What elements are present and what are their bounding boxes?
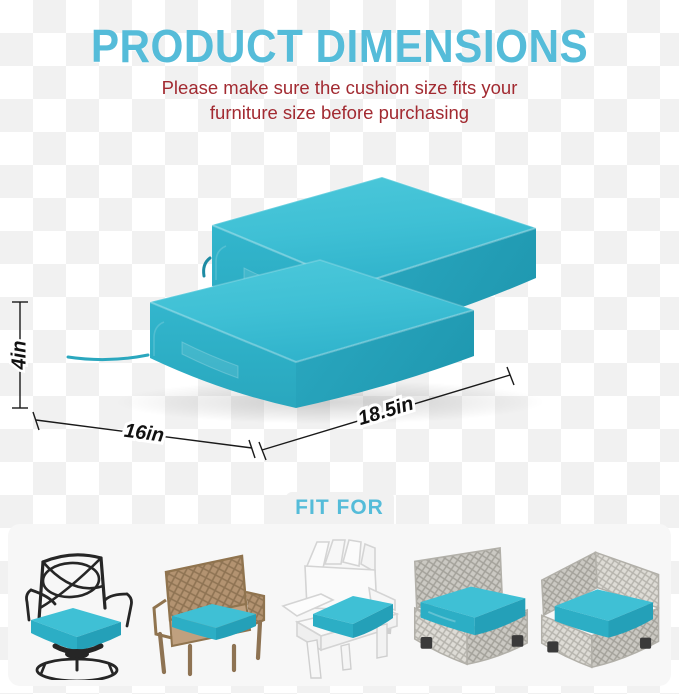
sectional-foot: [511, 635, 523, 647]
product-dimension-illustration: 4in 16in 18.5in: [0, 150, 679, 490]
cushion-top-tie-strap: [204, 258, 210, 276]
sectional-foot: [640, 638, 651, 649]
fit-item-wicker-armchair: [145, 530, 273, 680]
cushion-bottom-tie-strap: [68, 355, 148, 360]
swivel-chair-base: [37, 646, 117, 680]
dimension-width-label: 16in: [123, 420, 166, 447]
fit-for-panel: [8, 524, 671, 686]
page-subtitle: Please make sure the cushion size fits y…: [120, 76, 560, 126]
fit-for-item-list: [8, 524, 671, 686]
header: PRODUCT DIMENSIONS Please make sure the …: [0, 0, 679, 150]
sectional-foot: [547, 641, 558, 652]
page-title: PRODUCT DIMENSIONS: [27, 0, 652, 70]
fit-item-adirondack-chair: [276, 530, 404, 680]
fit-item-swivel-chair: [14, 530, 142, 680]
dimension-height-label: 4in: [8, 341, 30, 371]
sectional-foot: [420, 637, 432, 649]
subtitle-line-2: furniture size before purchasing: [120, 101, 560, 126]
fit-for-tab: FIT FOR: [286, 492, 394, 524]
swivel-chair-cushion: [31, 608, 121, 651]
fit-item-sectional-corner: [538, 530, 666, 680]
infographic-page: PRODUCT DIMENSIONS Please make sure the …: [0, 0, 679, 694]
subtitle-line-1: Please make sure the cushion size fits y…: [120, 76, 560, 101]
fit-item-sectional-armless: [407, 530, 535, 680]
fit-for-heading: FIT FOR: [295, 496, 384, 520]
